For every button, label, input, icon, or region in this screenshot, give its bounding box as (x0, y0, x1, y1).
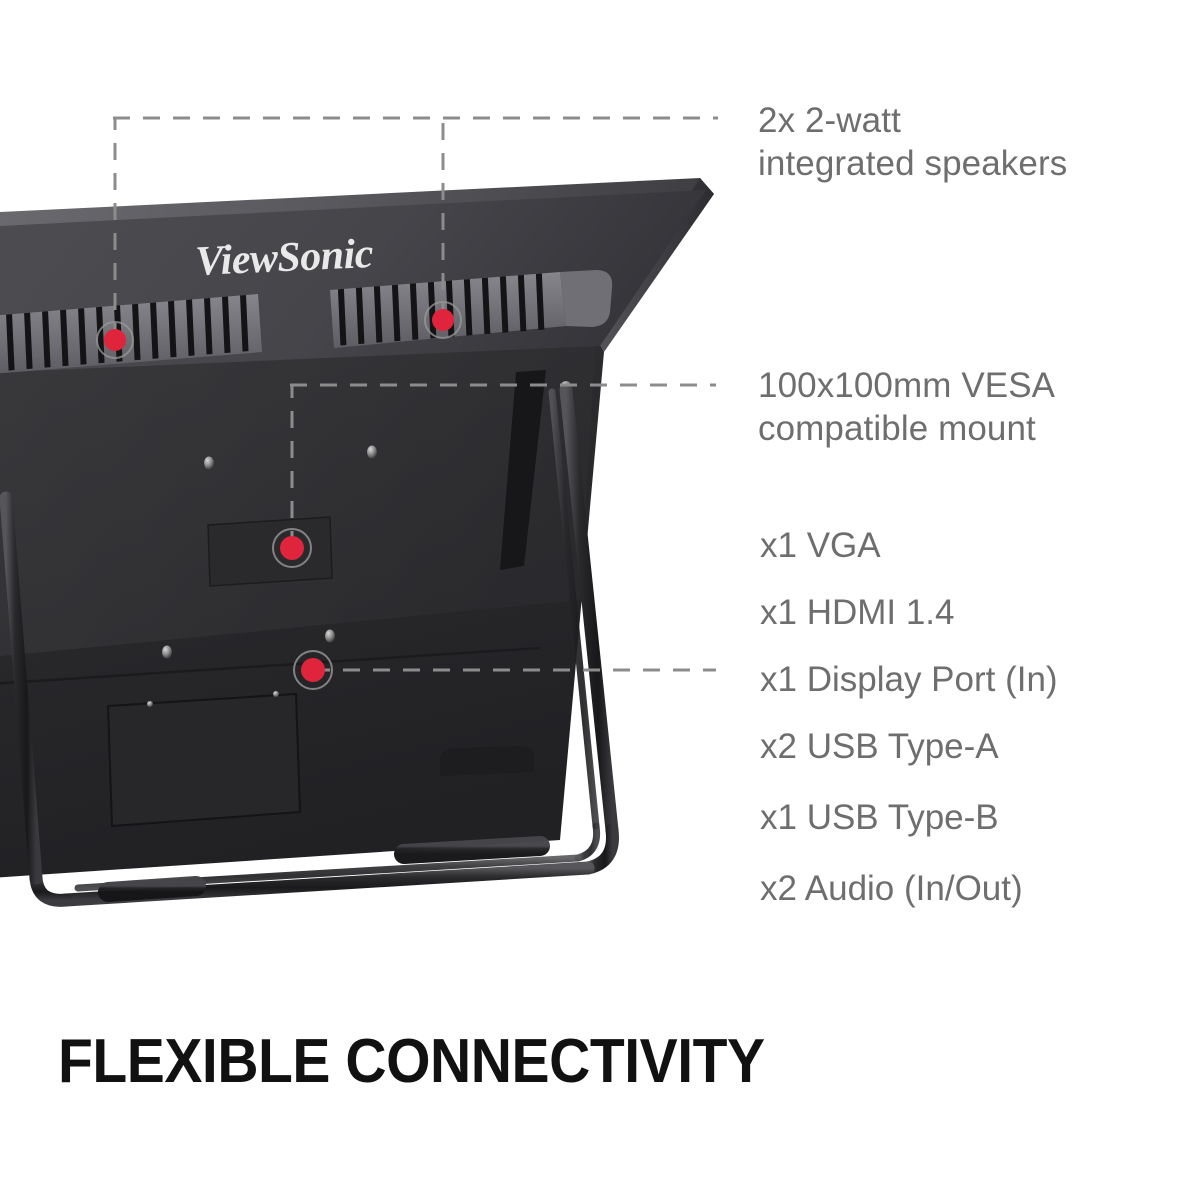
port-item-audio: x2 Audio (In/Out) (760, 871, 1023, 906)
port-item-hdmi: x1 HDMI 1.4 (760, 595, 955, 630)
bottom-foot-bumper (440, 746, 534, 776)
port-item-displayport: x1 Display Port (In) (760, 662, 1058, 697)
vesa-plate (208, 517, 332, 586)
product-image-monitor-rear: ViewSonic (0, 0, 760, 960)
viewsonic-logo: ViewSonic (194, 231, 374, 285)
port-item-vga: x1 VGA (760, 528, 881, 563)
infographic-canvas: ViewSonic (0, 0, 1200, 1200)
callout-text-vesa: 100x100mm VESA compatible mount (758, 365, 1055, 450)
port-item-usb-type-b: x1 USB Type-B (760, 800, 999, 835)
page-headline: FLEXIBLE CONNECTIVITY (58, 1026, 765, 1097)
port-item-usb-type-a: x2 USB Type-A (760, 729, 999, 764)
callout-text-speakers: 2x 2-watt integrated speakers (758, 100, 1067, 185)
